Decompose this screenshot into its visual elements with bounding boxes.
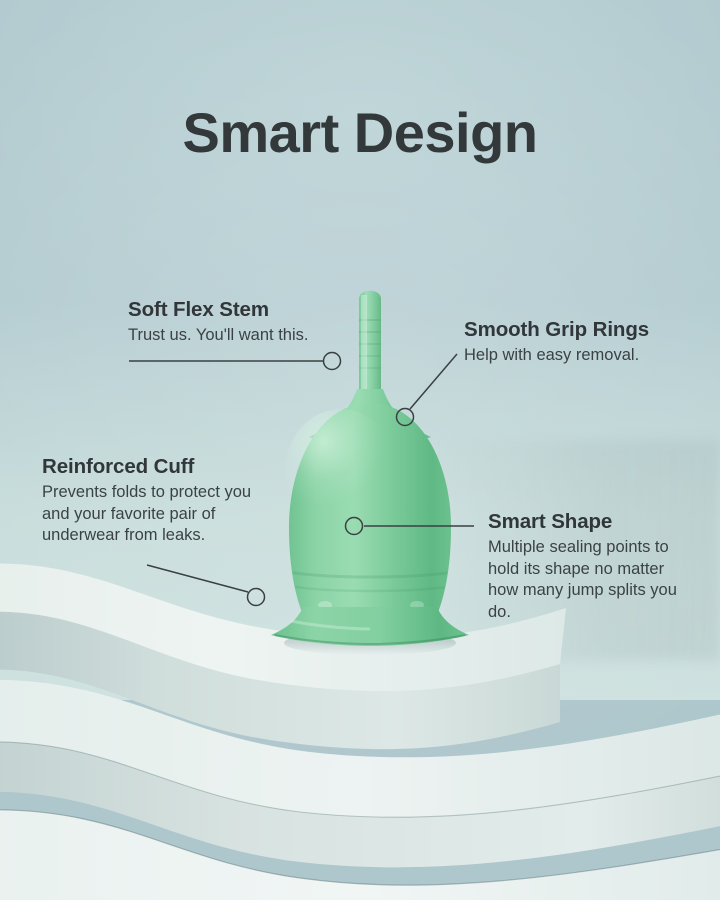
callout-title: Soft Flex Stem [128,298,308,322]
callout-title: Smart Shape [488,510,698,534]
callout-smooth-grip-rings: Smooth Grip Rings Help with easy removal… [464,318,649,367]
callout-body: Prevents folds to protect you and your f… [42,482,272,547]
page-title: Smart Design [0,100,720,165]
cup-body-highlight [285,409,397,533]
callout-soft-flex-stem: Soft Flex Stem Trust us. You'll want thi… [128,298,308,347]
callout-smart-shape: Smart Shape Multiple sealing points to h… [488,510,698,623]
callout-body: Help with easy removal. [464,345,649,367]
callout-body: Multiple sealing points to hold its shap… [488,537,698,623]
callout-reinforced-cuff: Reinforced Cuff Prevents folds to protec… [42,455,272,547]
product-infographic: Smart Design Soft Flex Stem Trust us. Yo… [0,0,720,900]
callout-title: Smooth Grip Rings [464,318,649,342]
callout-title: Reinforced Cuff [42,455,272,479]
callout-body: Trust us. You'll want this. [128,325,308,347]
